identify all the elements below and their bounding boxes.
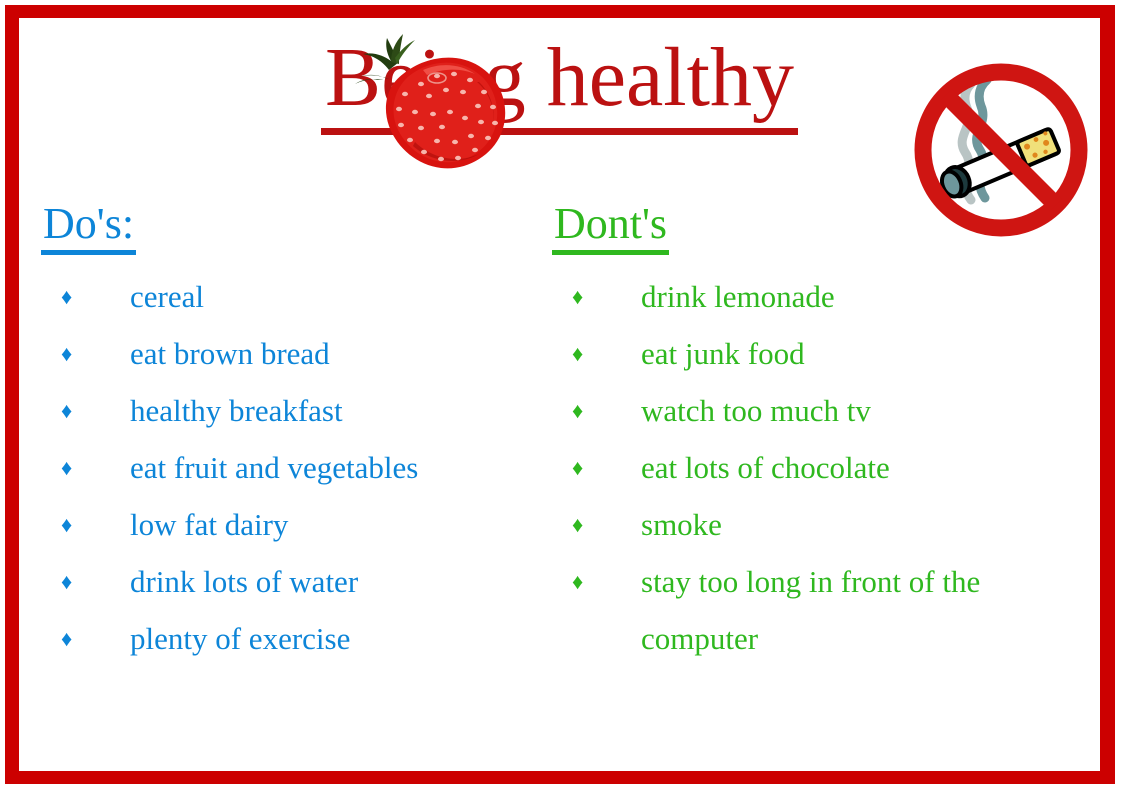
- diamond-bullet-icon: ♦: [572, 268, 583, 325]
- donts-heading-text: Dont's: [552, 199, 669, 255]
- dos-list: ♦ cereal ♦ eat brown bread ♦ healthy bre…: [41, 268, 541, 667]
- diamond-bullet-icon: ♦: [61, 610, 72, 667]
- list-item-label: plenty of exercise: [130, 621, 350, 656]
- list-item: ♦ stay too long in front of the computer: [552, 553, 1072, 667]
- list-item: ♦ eat brown bread: [41, 325, 541, 382]
- dos-column: Do's: ♦ cereal ♦ eat brown bread ♦ healt…: [41, 202, 541, 667]
- list-item: ♦ eat lots of chocolate: [552, 439, 1072, 496]
- diamond-bullet-icon: ♦: [572, 496, 583, 553]
- list-item-label: watch too much tv: [641, 393, 871, 428]
- list-item: ♦ eat fruit and vegetables: [41, 439, 541, 496]
- poster-canvas: Being healthy: [19, 18, 1100, 771]
- donts-column: Dont's ♦ drink lemonade ♦ eat junk food …: [552, 202, 1072, 667]
- list-item: ♦ healthy breakfast: [41, 382, 541, 439]
- list-item-label: low fat dairy: [130, 507, 288, 542]
- dos-heading-text: Do's:: [41, 199, 136, 255]
- diamond-bullet-icon: ♦: [572, 325, 583, 382]
- list-item: ♦ watch too much tv: [552, 382, 1072, 439]
- diamond-bullet-icon: ♦: [61, 553, 72, 610]
- diamond-bullet-icon: ♦: [572, 439, 583, 496]
- list-item: ♦ eat junk food: [552, 325, 1072, 382]
- diamond-bullet-icon: ♦: [61, 325, 72, 382]
- list-item-label: cereal: [130, 279, 204, 314]
- list-item-label: eat brown bread: [130, 336, 330, 371]
- list-item-label: eat junk food: [641, 336, 805, 371]
- list-item: ♦ smoke: [552, 496, 1072, 553]
- list-item: ♦ low fat dairy: [41, 496, 541, 553]
- list-item: ♦ drink lemonade: [552, 268, 1072, 325]
- red-border-frame: Being healthy: [5, 5, 1115, 784]
- list-item: ♦ drink lots of water: [41, 553, 541, 610]
- list-item-label: healthy breakfast: [130, 393, 343, 428]
- dos-heading: Do's:: [41, 202, 541, 246]
- diamond-bullet-icon: ♦: [572, 553, 583, 610]
- diamond-bullet-icon: ♦: [61, 496, 72, 553]
- diamond-bullet-icon: ♦: [61, 382, 72, 439]
- list-item-label: eat lots of chocolate: [641, 450, 890, 485]
- diamond-bullet-icon: ♦: [572, 382, 583, 439]
- diamond-bullet-icon: ♦: [61, 439, 72, 496]
- list-item-label: drink lots of water: [130, 564, 358, 599]
- donts-list: ♦ drink lemonade ♦ eat junk food ♦ watch…: [552, 268, 1072, 667]
- list-item-label: stay too long in front of the computer: [641, 564, 980, 656]
- list-item-label: smoke: [641, 507, 722, 542]
- list-item: ♦ cereal: [41, 268, 541, 325]
- strawberry-image: [345, 22, 520, 177]
- donts-heading: Dont's: [552, 202, 1072, 246]
- list-item-label: eat fruit and vegetables: [130, 450, 418, 485]
- list-item-label: drink lemonade: [641, 279, 835, 314]
- list-item: ♦ plenty of exercise: [41, 610, 541, 667]
- diamond-bullet-icon: ♦: [61, 268, 72, 325]
- poster: Being healthy: [0, 0, 1121, 792]
